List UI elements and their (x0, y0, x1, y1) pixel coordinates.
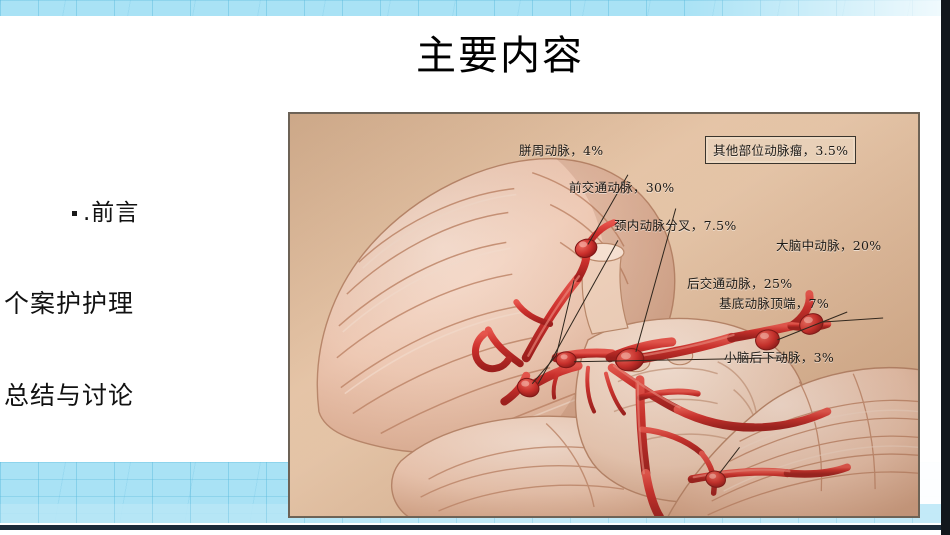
agenda-item-2[interactable]: 总结与讨论 (0, 370, 236, 418)
agenda-item-label: .前言 (83, 193, 139, 227)
slide-canvas: 主要内容 .前言 个案护护理 总结与讨论 (0, 0, 950, 535)
figure-label-anterior-communicating: 前交通动脉，30% (569, 177, 674, 196)
agenda-item-label: 个案护护理 (4, 284, 134, 320)
figure-label-ica-bifurcation: 颈内动脉分叉，7.5% (614, 215, 737, 234)
agenda-item-label: 总结与讨论 (4, 376, 134, 412)
figure-label-middle-cerebral: 大脑中动脉，20% (776, 235, 881, 254)
agenda-list: .前言 个案护护理 总结与讨论 (0, 186, 236, 418)
square-bullet-icon (72, 211, 77, 216)
agenda-item-1[interactable]: 个案护护理 (0, 278, 236, 326)
bottom-white-rule (0, 530, 950, 535)
figure-label-basilar-tip: 基底动脉顶端，7% (719, 293, 829, 312)
page-title: 主要内容 (300, 33, 700, 79)
brain-aneurysm-diagram: 胼周动脉，4% 前交通动脉，30% 颈内动脉分叉，7.5% 大脑中动脉，20% … (288, 112, 920, 518)
agenda-item-0[interactable]: .前言 (0, 186, 236, 234)
brain-illustration (289, 113, 919, 517)
top-decorative-band (0, 0, 950, 16)
figure-label-other-sites-boxed: 其他部位动脉瘤，3.5% (705, 136, 856, 164)
right-edge-bar (941, 0, 950, 535)
figure-label-posterior-communicating: 后交通动脉，25% (687, 273, 792, 292)
figure-label-pericallosal: 胼周动脉，4% (519, 140, 603, 159)
figure-label-pica: 小脑后下动脉，3% (724, 347, 834, 366)
